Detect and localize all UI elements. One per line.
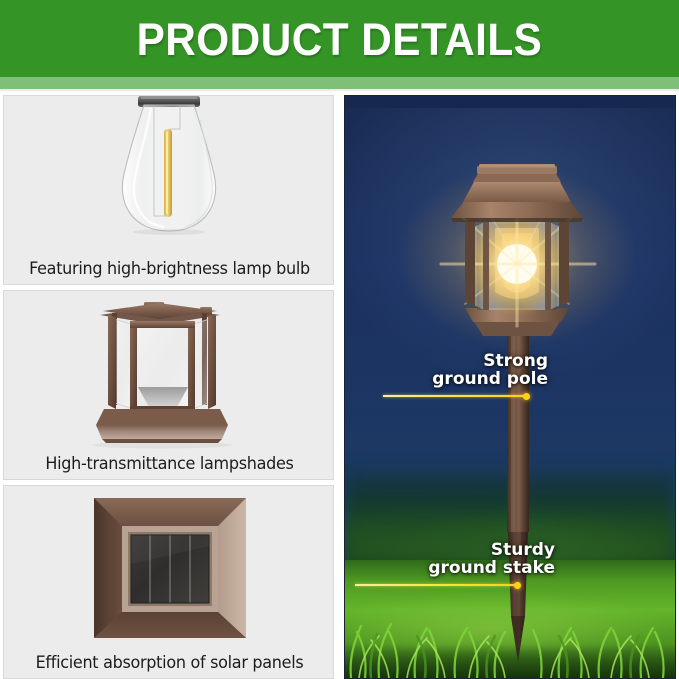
solar-path-light-night-photo: Strong ground pole Sturdy ground stake	[344, 95, 676, 679]
feature-caption-solar-panel: Efficient absorption of solar panels	[9, 653, 330, 672]
feature-caption-lampshade: High-transmittance lampshades	[9, 454, 330, 473]
page-title: PRODUCT DETAILS	[20, 14, 658, 66]
feature-panel-solar-panel: Efficient absorption of solar panels	[3, 485, 334, 679]
product-photo-column: Strong ground pole Sturdy ground stake	[344, 95, 676, 679]
header-banner-accent-strip	[0, 77, 679, 89]
feature-panel-column: Featuring high-brightness lamp bulb	[3, 95, 334, 679]
callout-ground-stake: Sturdy ground stake	[355, 541, 555, 577]
callout-ground-pole-line1: Strong	[363, 352, 548, 370]
callout-ground-stake-line2: ground stake	[355, 559, 555, 577]
callout-ground-stake-anchor-dot	[514, 582, 521, 589]
header-banner: PRODUCT DETAILS	[0, 0, 679, 93]
callout-ground-pole: Strong ground pole	[363, 352, 548, 388]
callout-ground-stake-leader-line	[355, 584, 517, 586]
lamp-bulb-illustration	[4, 96, 334, 256]
solar-panel-illustration	[4, 486, 334, 649]
callout-ground-pole-line2: ground pole	[363, 370, 548, 388]
header-banner-hairline	[0, 89, 679, 91]
feature-panel-lampshade: High-transmittance lampshades	[3, 290, 334, 480]
callout-ground-pole-leader-line	[383, 395, 526, 397]
content-area: Featuring high-brightness lamp bulb	[0, 95, 679, 679]
callout-ground-stake-text: Sturdy ground stake	[355, 541, 555, 577]
product-details-infographic: PRODUCT DETAILS	[0, 0, 679, 679]
lampshade-illustration	[4, 291, 334, 451]
callout-ground-pole-text: Strong ground pole	[363, 352, 548, 388]
feature-panel-lamp-bulb: Featuring high-brightness lamp bulb	[3, 95, 334, 285]
callout-ground-pole-anchor-dot	[523, 393, 530, 400]
callout-ground-stake-line1: Sturdy	[355, 541, 555, 559]
feature-caption-lamp-bulb: Featuring high-brightness lamp bulb	[9, 259, 330, 278]
